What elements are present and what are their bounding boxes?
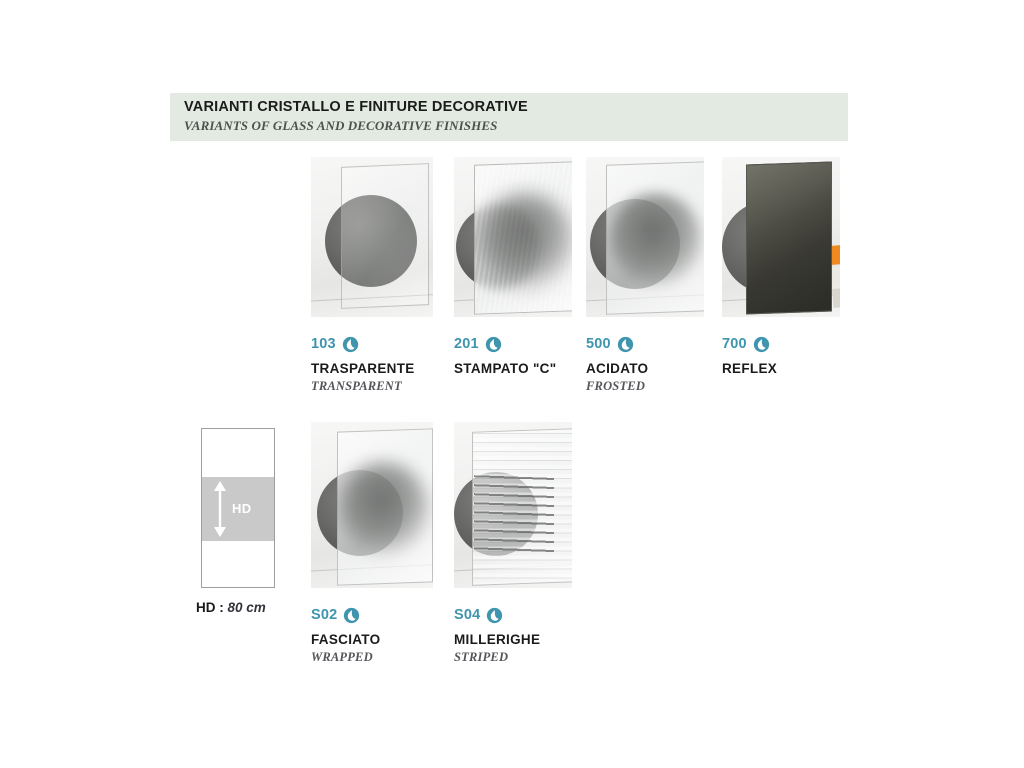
- sample-code-row: S02: [311, 606, 433, 624]
- glass-drop-icon: [343, 607, 360, 624]
- sample-name-it: REFLEX: [722, 361, 840, 376]
- sample-card-103[interactable]: 103 TRASPARENTE TRANSPARENT: [311, 157, 433, 394]
- sample-code: 201: [454, 336, 479, 352]
- sample-code-row: S04: [454, 606, 572, 624]
- sample-photo-frosted: [586, 157, 704, 317]
- sample-card-s02[interactable]: S02 FASCIATO WRAPPED: [311, 422, 433, 665]
- sample-name-it: MILLERIGHE: [454, 632, 572, 647]
- sample-code-row: 500: [586, 335, 704, 353]
- hd-diagram: HD: [201, 428, 275, 588]
- sample-name-en: WRAPPED: [311, 650, 433, 665]
- glass-pane-transparent: [341, 163, 429, 309]
- glass-drop-icon: [486, 607, 503, 624]
- glass-drop-icon: [485, 336, 502, 353]
- sample-card-500[interactable]: 500 ACIDATO FROSTED: [586, 157, 704, 394]
- sample-code: 700: [722, 336, 747, 352]
- glass-drop-icon: [342, 336, 359, 353]
- hd-caption-term: HD: [196, 600, 216, 615]
- glass-drop-icon: [617, 336, 634, 353]
- distorted-sphere: [478, 193, 572, 289]
- sample-card-s04[interactable]: S04 MILLERIGHE STRIPED: [454, 422, 572, 665]
- striped-sphere-bands: [474, 474, 554, 554]
- hd-double-arrow-icon: [213, 481, 227, 537]
- wrapped-sphere: [339, 462, 429, 554]
- sample-code: 500: [586, 336, 611, 352]
- hd-caption-value: 80 cm: [228, 600, 266, 615]
- sample-photo-wrapped: [311, 422, 433, 588]
- sample-code-row: 700: [722, 335, 840, 353]
- hd-caption-separator: :: [216, 600, 228, 615]
- sample-name-it: TRASPARENTE: [311, 361, 433, 376]
- page-title: VARIANTI CRISTALLO E FINITURE DECORATIVE: [184, 99, 528, 115]
- sample-card-201[interactable]: 201 STAMPATO "C": [454, 157, 572, 379]
- diffused-sphere: [610, 193, 702, 285]
- sample-photo-striped: [454, 422, 572, 588]
- sample-name-en: TRANSPARENT: [311, 379, 433, 394]
- sample-name-it: ACIDATO: [586, 361, 704, 376]
- catalog-page: VARIANTI CRISTALLO E FINITURE DECORATIVE…: [0, 0, 1024, 768]
- sample-code-row: 201: [454, 335, 572, 353]
- sample-photo-reflex: [722, 157, 840, 317]
- sample-photo-transparent: [311, 157, 433, 317]
- pane-sheen: [747, 163, 831, 314]
- sample-card-700[interactable]: 700 REFLEX: [722, 157, 840, 379]
- section-banner: VARIANTI CRISTALLO E FINITURE DECORATIVE…: [170, 93, 848, 141]
- sample-code: S02: [311, 607, 337, 623]
- sample-code: 103: [311, 336, 336, 352]
- sample-code: S04: [454, 607, 480, 623]
- glass-pane-reflex: [746, 161, 832, 314]
- sample-name-en: STRIPED: [454, 650, 572, 665]
- sample-code-row: 103: [311, 335, 433, 353]
- sample-name-it: FASCIATO: [311, 632, 433, 647]
- sample-name-en: FROSTED: [586, 379, 704, 394]
- page-subtitle: VARIANTS OF GLASS AND DECORATIVE FINISHE…: [184, 118, 497, 134]
- sample-photo-printed: [454, 157, 572, 317]
- sample-name-it: STAMPATO "C": [454, 361, 572, 376]
- hd-band-label: HD: [232, 501, 252, 516]
- glass-drop-icon: [753, 336, 770, 353]
